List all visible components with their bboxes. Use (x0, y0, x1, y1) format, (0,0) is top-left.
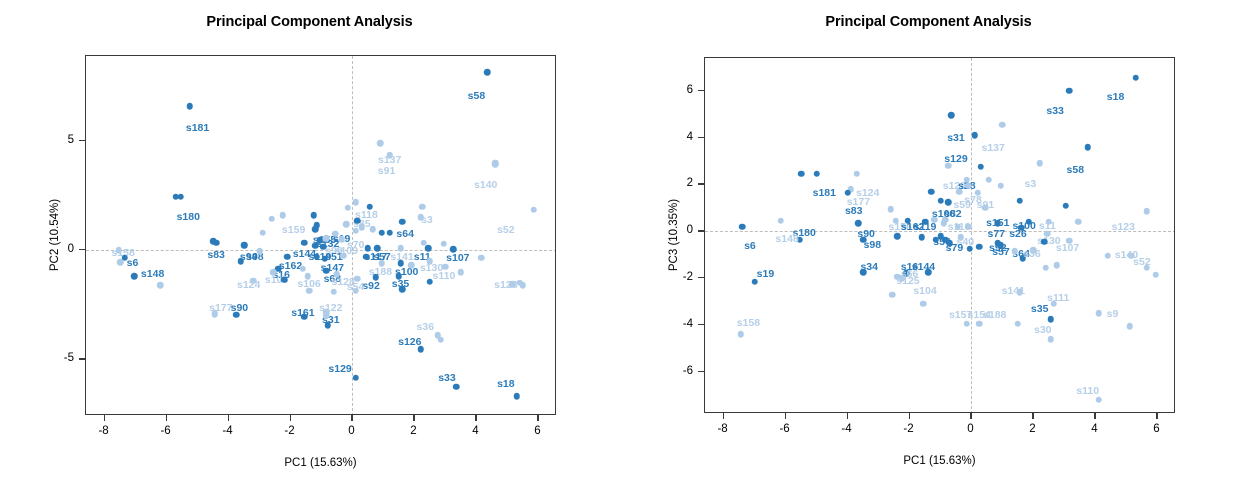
x-axis-tick-label: 0 (967, 423, 973, 435)
reference-line-vertical (352, 56, 353, 414)
scatter-point (798, 171, 805, 178)
scatter-point (427, 279, 434, 286)
x-axis-tick (413, 415, 414, 421)
scatter-point (397, 245, 404, 252)
scatter-point (320, 244, 327, 251)
scatter-point (967, 246, 974, 253)
scatter-point (999, 122, 1006, 129)
scatter-point-label: s58 (468, 91, 486, 102)
scatter-point-label: s77 (988, 229, 1006, 240)
y-axis-title-left: PC2 (10.54%) (49, 199, 61, 271)
scatter-point-label: s107 (1056, 243, 1079, 254)
scatter-point-label: s107 (446, 253, 469, 264)
scatter-point (945, 199, 952, 206)
scatter-point (419, 203, 426, 210)
scatter-point-label: s30 (1034, 325, 1052, 336)
y-axis-tick (698, 90, 704, 91)
scatter-point (854, 171, 861, 178)
y-axis-tick-label: -4 (683, 318, 693, 330)
scatter-point (964, 321, 971, 328)
scatter-point (1084, 144, 1091, 151)
scatter-point (965, 182, 972, 189)
scatter-point (737, 331, 744, 338)
scatter-point (478, 255, 485, 262)
scatter-point (131, 273, 138, 280)
y-axis-tick (79, 358, 85, 359)
scatter-point (931, 216, 938, 223)
scatter-point-label: s58 (1067, 165, 1085, 176)
scatter-point (408, 262, 415, 269)
scatter-point (920, 301, 927, 308)
scatter-point (363, 253, 370, 260)
scatter-point (985, 177, 992, 184)
scatter-point (306, 287, 313, 294)
y-axis-tick (698, 183, 704, 184)
scatter-point-label: s91 (378, 166, 396, 177)
y-axis-tick-label: 6 (687, 84, 693, 96)
scatter-point (974, 189, 981, 196)
scatter-point-label: s33 (1046, 106, 1064, 117)
scatter-point (1075, 219, 1082, 226)
scatter-point-label: s158 (737, 318, 760, 329)
reference-line-vertical (971, 58, 972, 412)
scatter-point (352, 375, 359, 382)
scatter-point (352, 287, 359, 294)
scatter-point (379, 229, 386, 236)
x-axis-tick-label: -4 (841, 423, 851, 435)
x-axis-tick (351, 415, 352, 421)
scatter-point-label: s18 (1107, 92, 1125, 103)
x-axis-tick-label: -8 (717, 423, 727, 435)
scatter-point (889, 291, 896, 298)
scatter-point (399, 286, 406, 293)
scatter-point (323, 312, 330, 319)
scatter-point (425, 245, 432, 252)
x-axis-tick (723, 413, 724, 419)
scatter-point-label: s18 (497, 379, 515, 390)
scatter-point (844, 189, 851, 196)
scatter-point-label: s31 (947, 133, 965, 144)
x-axis-tick-label: 0 (348, 425, 354, 437)
scatter-point-label: s33 (438, 373, 456, 384)
x-axis-tick (1094, 413, 1095, 419)
scatter-point (1126, 323, 1133, 330)
scatter-point (300, 265, 307, 272)
scatter-point (458, 269, 465, 276)
x-axis-tick (290, 415, 291, 421)
scatter-point (366, 203, 373, 210)
scatter-point (323, 235, 330, 242)
scatter-point (1053, 262, 1060, 269)
scatter-point (1153, 271, 1160, 278)
scatter-point (484, 69, 491, 76)
x-axis-tick (970, 413, 971, 419)
y-axis-tick-label: -6 (683, 365, 693, 377)
scatter-point-label: s137 (981, 143, 1004, 154)
scatter-point-label: s83 (207, 250, 225, 261)
scatter-point (269, 215, 276, 222)
scatter-point (531, 207, 538, 214)
scatter-point-label: s181 (813, 188, 836, 199)
scatter-point-label: s52 (1133, 257, 1151, 268)
scatter-point-label: s111 (1047, 293, 1069, 304)
scatter-point-label: s110 (433, 271, 456, 282)
x-axis-tick (104, 415, 105, 421)
x-axis-tick (166, 415, 167, 421)
scatter-point (998, 182, 1005, 189)
scatter-point (359, 224, 366, 231)
y-axis-tick (79, 140, 85, 141)
y-axis-tick-label: 0 (687, 224, 693, 236)
scatter-point (417, 214, 424, 221)
scatter-point-label: s98 (864, 240, 882, 251)
scatter-point (338, 236, 345, 243)
scatter-point-label: s123 (1112, 222, 1135, 233)
scatter-point (1016, 198, 1023, 205)
y-axis-tick-label: 2 (687, 177, 693, 189)
x-axis-tick-label: -6 (160, 425, 170, 437)
x-axis-tick (1032, 413, 1033, 419)
x-axis-title-left: PC1 (15.63%) (284, 457, 356, 469)
scatter-point (117, 259, 124, 266)
scatter-point (386, 229, 393, 236)
scatter-point (331, 288, 338, 295)
y-axis-tick (698, 230, 704, 231)
scatter-point-label: s161 (291, 308, 314, 319)
scatter-point (256, 248, 263, 255)
scatter-point-label: s122 (319, 303, 342, 314)
x-axis-tick-label: -2 (284, 425, 294, 437)
x-axis-tick-label: -2 (903, 423, 913, 435)
scatter-point-label: s159 (282, 225, 305, 236)
scatter-point-label: s188 (983, 310, 1006, 321)
scatter-point-label: s128 (332, 277, 355, 288)
scatter-point-label: s181 (186, 123, 209, 134)
scatter-point (1047, 316, 1054, 323)
scatter-point-label: s180 (177, 212, 200, 223)
pca-panel-pc1-pc3: Principal Component Analysis s18s33s31s1… (619, 0, 1238, 500)
scatter-point (976, 321, 983, 328)
scatter-point-label: s19 (757, 269, 775, 280)
scatter-point-label: s57 (992, 247, 1010, 258)
scatter-point (1095, 397, 1102, 404)
scatter-point (377, 140, 384, 147)
scatter-point (492, 161, 499, 168)
scatter-point-label: s92 (362, 281, 380, 292)
scatter-point (340, 252, 347, 259)
scatter-point (386, 152, 393, 159)
scatter-point (421, 239, 428, 246)
scatter-point (855, 220, 862, 227)
scatter-point-label: s148 (775, 234, 798, 245)
scatter-point (520, 282, 527, 289)
y-axis-tick (698, 371, 704, 372)
x-axis-tick (475, 415, 476, 421)
x-axis-tick-label: 6 (1153, 423, 1159, 435)
scatter-point (928, 188, 935, 195)
scatter-point (173, 193, 180, 200)
scatter-point (954, 223, 961, 230)
scatter-point-label: s52 (497, 225, 515, 236)
scatter-point (894, 233, 901, 240)
scatter-point-label: s36 (417, 322, 435, 333)
scatter-point (312, 226, 319, 233)
scatter-point (311, 212, 318, 219)
x-axis-tick (1156, 413, 1157, 419)
x-axis-tick (228, 415, 229, 421)
scatter-point-label: s6 (744, 241, 756, 252)
scatter-point (352, 199, 359, 206)
scatter-point (965, 223, 972, 230)
scatter-point (441, 240, 448, 247)
scatter-point-label: s6 (127, 258, 139, 269)
scatter-point (259, 229, 266, 236)
x-axis-title-right: PC1 (15.63%) (903, 455, 975, 467)
scatter-point (1105, 253, 1112, 260)
y-axis-tick-label: 4 (687, 131, 693, 143)
y-axis-tick-label: 5 (68, 134, 74, 146)
scatter-point (739, 223, 746, 230)
scatter-point (1012, 248, 1019, 255)
scatter-point-label: s9 (1107, 309, 1119, 320)
x-axis-tick-label: 4 (1091, 423, 1097, 435)
scatter-point-label: s34 (860, 262, 878, 273)
scatter-point (238, 258, 245, 265)
scatter-point (1143, 208, 1150, 215)
scatter-point (281, 276, 288, 283)
scatter-point (1036, 160, 1043, 167)
scatter-point (284, 253, 291, 260)
scatter-point-label: s64 (396, 229, 414, 240)
scatter-point-label: s148 (141, 269, 164, 280)
scatter-point-label: s124 (237, 280, 260, 291)
scatter-point (971, 132, 978, 139)
scatter-point (211, 311, 218, 318)
scatter-point (450, 246, 457, 253)
scatter-point-label: s90 (231, 303, 249, 314)
scatter-point (1047, 336, 1054, 343)
scatter-point (1041, 239, 1048, 246)
x-axis-tick-label: 2 (410, 425, 416, 437)
pca-figure: Principal Component Analysis s58s181s137… (0, 0, 1238, 500)
pca-panel-pc1-pc2: Principal Component Analysis s58s181s137… (0, 0, 619, 500)
scatter-point-label: s36 (1023, 249, 1041, 260)
scatter-point (345, 204, 352, 211)
scatter-point (210, 238, 217, 245)
scatter-point-label: s35 (1031, 304, 1049, 315)
scatter-point (438, 336, 445, 343)
x-axis-tick-label: 2 (1029, 423, 1035, 435)
scatter-point (314, 253, 321, 260)
scatter-point (280, 212, 287, 219)
y-axis-tick-label: -5 (64, 352, 74, 364)
y-axis-tick-label: -2 (683, 271, 693, 283)
plot-frame-right: s18s33s31s137s129s58s3s128s28s181s124s17… (704, 57, 1175, 413)
x-axis-tick-label: 6 (534, 425, 540, 437)
y-axis-tick (698, 277, 704, 278)
scatter-point (1066, 88, 1073, 95)
scatter-point (982, 205, 989, 212)
scatter-point (888, 206, 895, 213)
scatter-point (317, 237, 324, 244)
scatter-point (919, 234, 926, 241)
scatter-point (369, 226, 376, 233)
scatter-point (956, 188, 963, 195)
scatter-point (945, 162, 952, 169)
scatter-point (513, 393, 520, 400)
plot-frame-left: s58s181s137s91s140s180s118s3s52s85s159s6… (85, 55, 556, 415)
scatter-point-label: s119 (914, 222, 937, 233)
scatter-point (976, 243, 983, 250)
scatter-point (813, 171, 820, 178)
scatter-point (365, 245, 372, 252)
scatter-point (332, 231, 339, 238)
scatter-point-label: s126 (398, 337, 421, 348)
scatter-point (157, 282, 164, 289)
x-axis-tick-label: -4 (222, 425, 232, 437)
scatter-point-label: s110 (1076, 386, 1099, 397)
scatter-point (399, 219, 406, 226)
scatter-point (1043, 264, 1050, 271)
scatter-point (933, 236, 940, 243)
scatter-point (374, 245, 381, 252)
scatter-point (187, 103, 194, 110)
plot-title-right: Principal Component Analysis (619, 14, 1238, 30)
plot-title-left: Principal Component Analysis (0, 14, 619, 30)
scatter-point-label: s141 (1002, 286, 1025, 297)
scatter-point (978, 164, 985, 171)
scatter-point-label: s79 (946, 243, 964, 254)
scatter-point (964, 177, 971, 184)
scatter-point (241, 243, 248, 250)
scatter-point (937, 198, 944, 205)
scatter-layer-left: s58s181s137s91s140s180s118s3s52s85s159s6… (86, 56, 555, 414)
x-axis-tick-label: -6 (779, 423, 789, 435)
y-axis-title-right: PC3 (10.35%) (668, 199, 680, 271)
scatter-point-label: s129 (328, 364, 351, 375)
scatter-point-label: s26 (1009, 229, 1027, 240)
y-axis-tick (698, 137, 704, 138)
x-axis-tick (847, 413, 848, 419)
scatter-point (995, 220, 1002, 227)
x-axis-tick-label: 4 (472, 425, 478, 437)
scatter-point-label: s3 (1025, 179, 1037, 190)
y-axis-tick (698, 324, 704, 325)
scatter-point (948, 112, 955, 119)
scatter-point (1132, 75, 1139, 82)
x-axis-tick (785, 413, 786, 419)
scatter-point (1063, 202, 1070, 209)
x-axis-tick (537, 415, 538, 421)
scatter-point-label: s83 (845, 206, 863, 217)
scatter-point (1015, 321, 1022, 328)
scatter-point (1095, 310, 1102, 317)
scatter-point (940, 220, 947, 227)
scatter-point (343, 221, 350, 228)
scatter-point-label: s104 (913, 286, 936, 297)
scatter-point (778, 218, 785, 225)
y-axis-tick-label: 0 (68, 243, 74, 255)
x-axis-tick (909, 413, 910, 419)
scatter-point-label: s140 (474, 180, 497, 191)
x-axis-tick-label: -8 (98, 425, 108, 437)
y-axis-tick (79, 249, 85, 250)
scatter-layer-right: s18s33s31s137s129s58s3s128s28s181s124s17… (705, 58, 1174, 412)
scatter-point (301, 239, 308, 246)
scatter-point (942, 236, 949, 243)
scatter-point (321, 256, 328, 263)
scatter-point (442, 263, 449, 270)
scatter-point (509, 281, 516, 288)
scatter-point (354, 217, 361, 224)
